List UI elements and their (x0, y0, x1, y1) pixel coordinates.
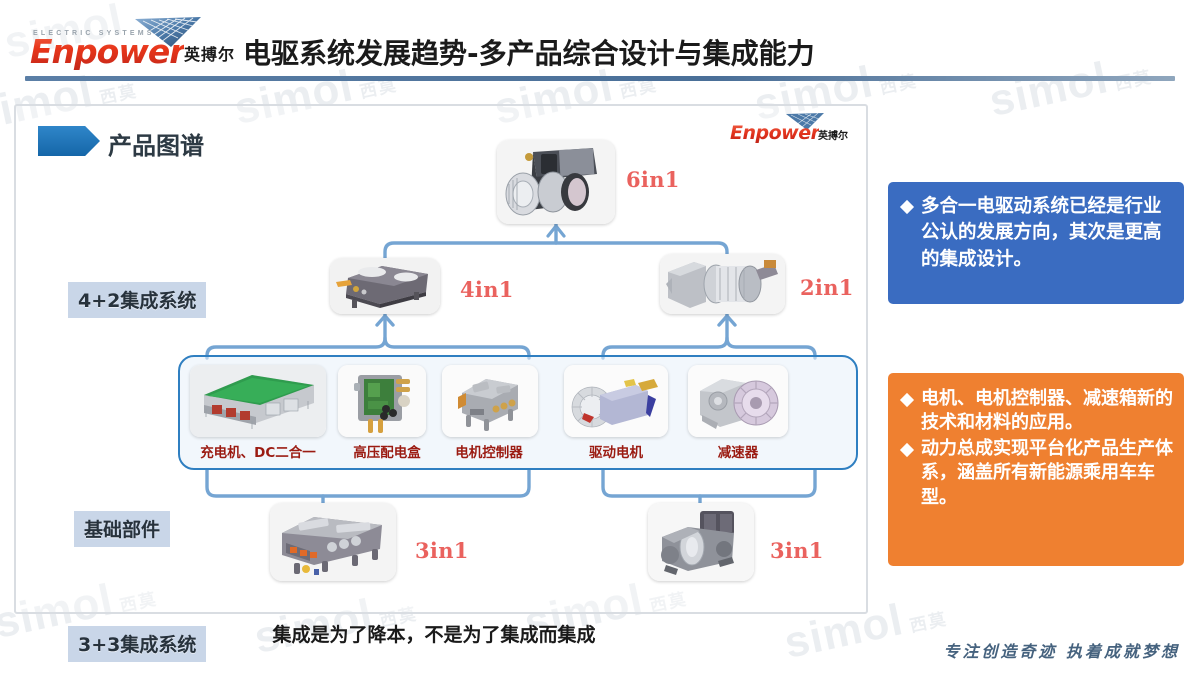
card-enpower-logo: Enpower 英搏尔 (722, 114, 854, 144)
power-electronics-box-4in1-icon (330, 258, 440, 314)
logo-chinese-name: 英搏尔 (184, 41, 235, 65)
component-label-reducer: 减速器 (663, 441, 813, 461)
product-image-three-in-one-right[interactable] (648, 503, 754, 581)
component-image-reducer[interactable] (688, 365, 788, 437)
callout-orange: 电机、电机控制器、减速箱新的技术和材料的应用。 动力总成实现平台化产品生产体系，… (888, 373, 1184, 566)
callout-orange-text-1: 电机、电机控制器、减速箱新的技术和材料的应用。 (921, 387, 1174, 436)
diamond-bullet-icon (900, 200, 914, 214)
bullet-item: 多合一电驱动系统已经是行业公认的发展方向，其次是更高的集成设计。 (898, 194, 1174, 273)
card-logo-chinese: 英搏尔 (818, 127, 848, 142)
component-image-motor[interactable] (564, 365, 668, 437)
bullet-item: 电机、电机控制器、减速箱新的技术和材料的应用。 (898, 387, 1174, 436)
product-image-two-in-one[interactable] (660, 254, 785, 314)
section-title: 产品图谱 (108, 126, 204, 161)
diamond-bullet-icon (900, 443, 914, 457)
product-image-four-in-one[interactable] (330, 258, 440, 314)
component-image-mcu[interactable] (442, 365, 538, 437)
callout-blue: 多合一电驱动系统已经是行业公认的发展方向，其次是更高的集成设计。 (888, 182, 1184, 304)
obc-dcdc-module-icon (190, 365, 326, 437)
footer-tagline: 专注创造奇迹 执着成就梦想 (943, 638, 1180, 662)
power-box-3in1-icon (270, 503, 396, 581)
page-title: 电驱系统发展趋势-多产品综合设计与集成能力 (243, 32, 815, 72)
drive-motor-icon (564, 365, 668, 437)
callout-blue-text: 多合一电驱动系统已经是行业公认的发展方向，其次是更高的集成设计。 (921, 194, 1174, 273)
product-image-six-in-one[interactable] (497, 140, 615, 224)
diamond-bullet-icon (900, 393, 914, 407)
bullet-item: 动力总成实现平台化产品生产体系，涵盖所有新能源乘用车车型。 (898, 437, 1174, 510)
watermark-chinese: 西莫 (908, 609, 949, 636)
component-image-pdu[interactable] (338, 365, 426, 437)
footer-statement: 集成是为了降本，不是为了集成而集成 (0, 620, 868, 647)
reducer-gearbox-icon (688, 365, 788, 437)
product-image-three-in-one-left[interactable] (270, 503, 396, 581)
motor-controller-icon (442, 365, 538, 437)
component-label-obc-dcdc: 充电机、DC二合一 (183, 441, 333, 461)
title-divider (25, 76, 1175, 81)
component-image-obc-dcdc[interactable] (190, 365, 326, 437)
enpower-logo: ELECTRIC SYSTEMS Enpower 英搏尔 (28, 26, 240, 70)
motor-gearbox-2in1-icon (660, 254, 785, 314)
integrated-drive-unit-6in1-icon (497, 140, 615, 224)
base-components-frame: 充电机、DC二合一 高压配电盒 (178, 355, 858, 470)
row-label-base-components: 基础部件 (74, 511, 170, 547)
card-logo-wordmark: Enpower (730, 122, 819, 144)
edrive-assembly-3in1-icon (648, 503, 754, 581)
row-label-4plus2: 4+2集成系统 (68, 282, 206, 318)
logo-wordmark: Enpower (30, 32, 184, 71)
high-voltage-pdu-icon (338, 365, 426, 437)
section-arrow-icon (38, 126, 100, 156)
slide-header: ELECTRIC SYSTEMS Enpower 英搏尔 电驱系统发展趋势-多产… (0, 0, 1200, 86)
callout-orange-text-2: 动力总成实现平台化产品生产体系，涵盖所有新能源乘用车车型。 (921, 437, 1174, 510)
